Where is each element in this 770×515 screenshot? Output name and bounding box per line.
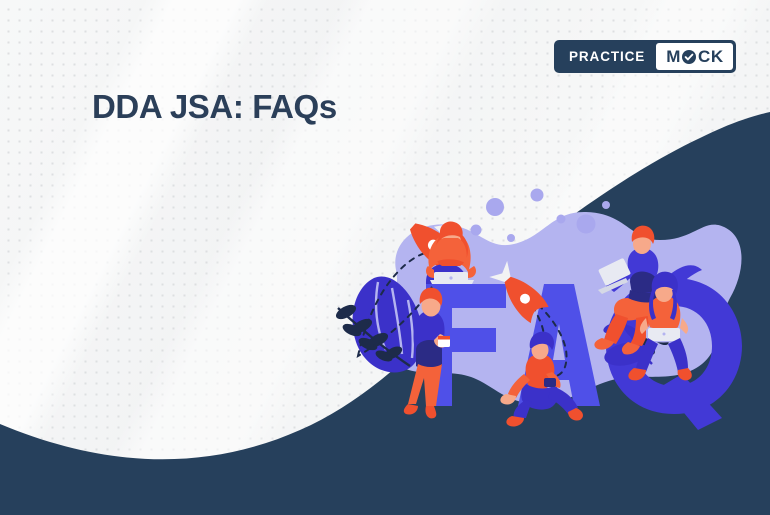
page-title: DDA JSA: FAQs bbox=[92, 88, 337, 126]
faq-people-illustration bbox=[330, 178, 770, 448]
faq-banner: DDA JSA: FAQs PRACTICE M CK bbox=[0, 0, 770, 515]
check-in-circle-icon bbox=[681, 49, 697, 65]
logo-mock-text-after: CK bbox=[698, 48, 724, 65]
logo-practice-text: PRACTICE bbox=[557, 43, 656, 70]
logo-mock-plate: M CK bbox=[656, 43, 733, 70]
logo-mock-text-before: M bbox=[666, 48, 681, 65]
practicemock-logo[interactable]: PRACTICE M CK bbox=[554, 40, 736, 73]
